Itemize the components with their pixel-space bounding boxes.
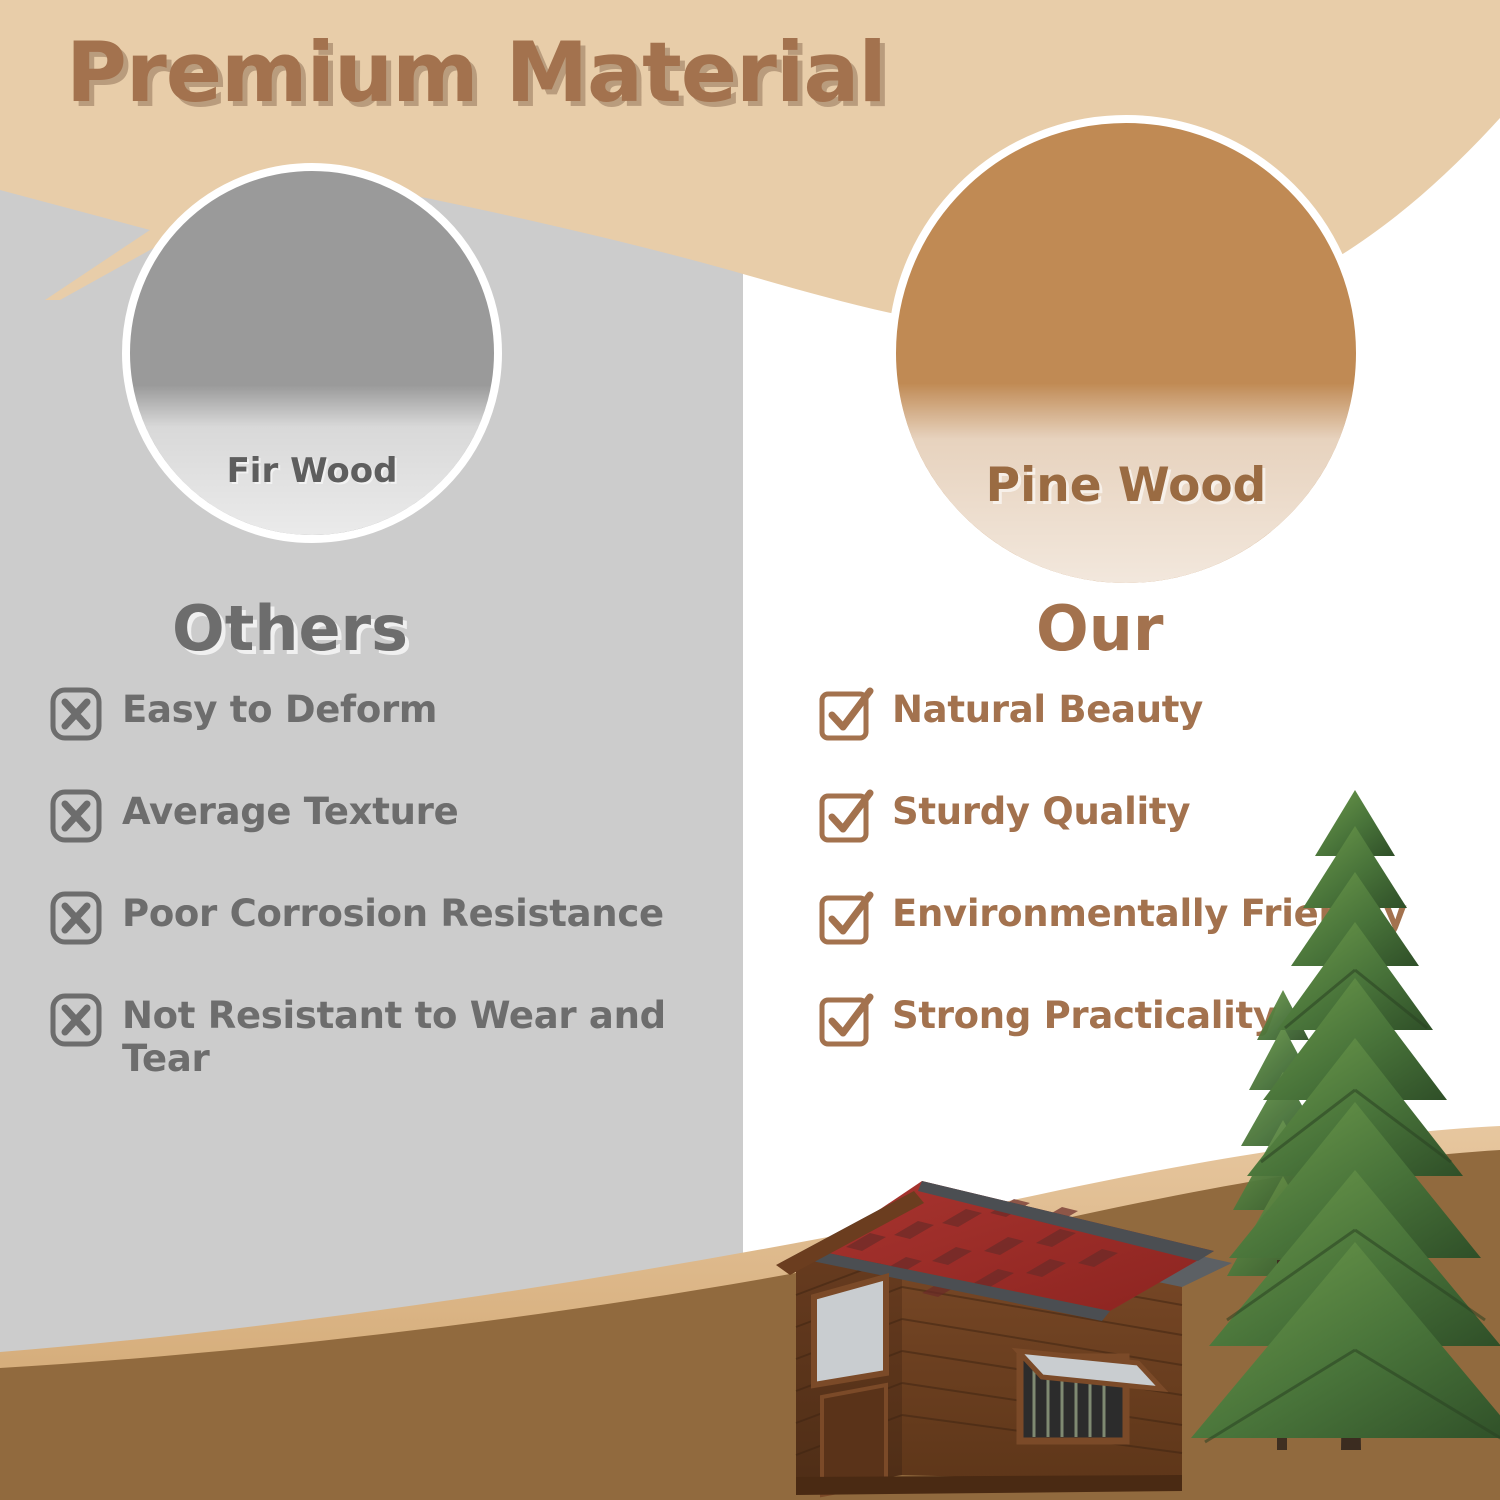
fir-wood-label: Fir Wood bbox=[130, 451, 494, 491]
list-item-label: Sturdy Quality bbox=[892, 790, 1190, 833]
check-box-icon bbox=[818, 788, 874, 844]
check-box-icon bbox=[818, 686, 874, 742]
others-feature-list: Easy to Deform Average Texture Poor Corr… bbox=[48, 688, 738, 1129]
list-item: Poor Corrosion Resistance bbox=[48, 892, 738, 946]
list-item-label: Not Resistant to Wear and Tear bbox=[122, 994, 682, 1081]
pine-wood-circle: Pine Wood bbox=[888, 115, 1364, 591]
list-item-label: Average Texture bbox=[122, 790, 458, 833]
list-item: Easy to Deform bbox=[48, 688, 738, 742]
infographic-canvas: Premium Material Fir Wood Pine Wood Othe… bbox=[0, 0, 1500, 1500]
fir-wood-circle: Fir Wood bbox=[122, 163, 502, 543]
x-box-icon bbox=[48, 686, 104, 742]
list-item-label: Natural Beauty bbox=[892, 688, 1203, 731]
check-box-icon bbox=[818, 992, 874, 1048]
check-box-icon bbox=[818, 890, 874, 946]
list-item: Not Resistant to Wear and Tear bbox=[48, 994, 738, 1081]
others-heading: Others bbox=[172, 592, 408, 665]
list-item: Average Texture bbox=[48, 790, 738, 844]
page-title: Premium Material bbox=[66, 24, 886, 121]
wooden-dog-house-photo bbox=[762, 1145, 1322, 1500]
list-item-label: Poor Corrosion Resistance bbox=[122, 892, 664, 935]
x-box-icon bbox=[48, 788, 104, 844]
x-box-icon bbox=[48, 890, 104, 946]
list-item-label: Easy to Deform bbox=[122, 688, 437, 731]
our-heading: Our bbox=[1036, 592, 1163, 665]
pine-wood-label: Pine Wood bbox=[896, 458, 1356, 513]
x-box-icon bbox=[48, 992, 104, 1048]
list-item: Natural Beauty bbox=[818, 688, 1488, 742]
